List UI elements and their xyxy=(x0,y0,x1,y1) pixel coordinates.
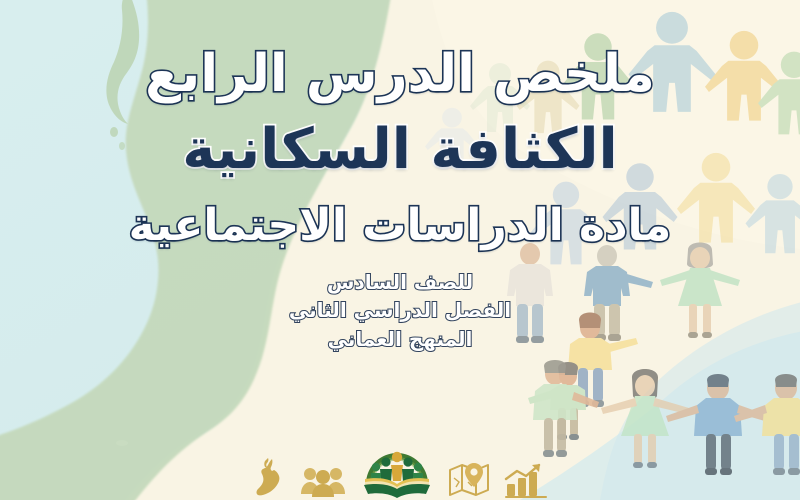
subtitle-curriculum: المنهج العماني xyxy=(0,325,800,353)
oman-map-silhouette-icon xyxy=(252,458,286,498)
map-location-pin-icon xyxy=(448,462,490,498)
title-line-1: ملخص الدرس الرابع xyxy=(0,48,800,100)
poster-root: ملخص الدرس الرابع الكثافة السكانية مادة … xyxy=(0,0,800,500)
education-logo xyxy=(360,444,434,498)
subtitle-grade: للصف السادس xyxy=(0,268,800,296)
people-group-icon xyxy=(300,464,346,498)
subtitle-term: الفصل الدراسي الثاني xyxy=(0,296,800,324)
title-block: ملخص الدرس الرابع الكثافة السكانية مادة … xyxy=(0,48,800,353)
bottom-icon-row xyxy=(0,442,800,498)
title-line-3: مادة الدراسات الاجتماعية xyxy=(0,204,800,248)
subtitle-block: للصف السادس الفصل الدراسي الثاني المنهج … xyxy=(0,268,800,353)
title-line-2: الكثافة السكانية xyxy=(0,122,800,178)
bar-chart-growth-icon xyxy=(504,462,548,498)
